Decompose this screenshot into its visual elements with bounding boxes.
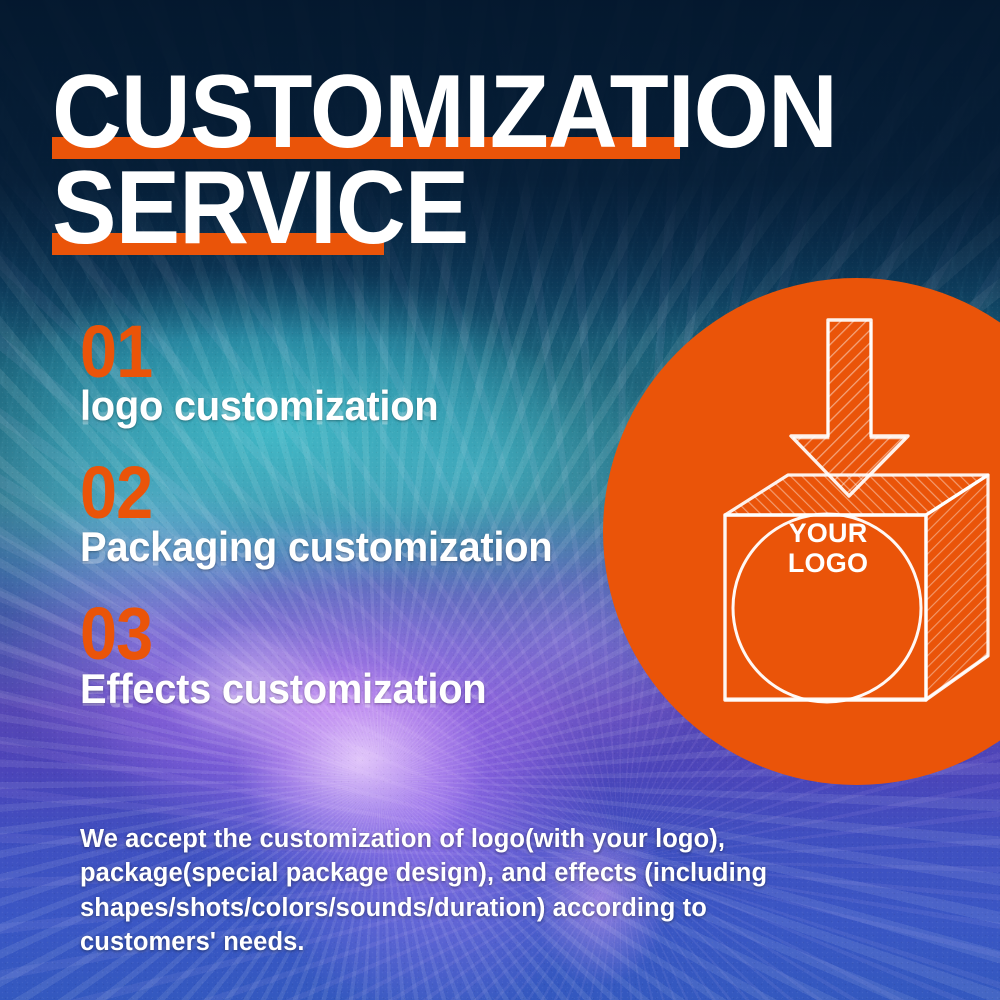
- description-paragraph: We accept the customization of logo(with…: [80, 822, 850, 960]
- headline-line-1: CUSTOMIZATION: [52, 65, 837, 161]
- orange-circle-graphic: YOUR LOGO: [603, 278, 1000, 785]
- service-item-label: Packaging customization: [80, 526, 552, 568]
- service-items-list: 01 logo customization logo customization…: [80, 322, 640, 746]
- service-item-label-wrap: Effects customization Effects customizat…: [80, 668, 640, 714]
- your-logo-line-2: LOGO: [758, 548, 898, 578]
- service-item-02: 02 Packaging customization Packaging cus…: [80, 463, 640, 572]
- headline-block: CUSTOMIZATION SERVICE: [52, 48, 752, 249]
- service-item-number: 03: [80, 604, 584, 663]
- your-logo-text: YOUR LOGO: [758, 518, 898, 578]
- headline-line-2-row: SERVICE: [52, 149, 752, 249]
- banner-content: CUSTOMIZATION SERVICE 01 logo customizat…: [0, 0, 1000, 1000]
- service-item-number: 01: [80, 322, 584, 381]
- service-item-number: 02: [80, 463, 584, 522]
- service-item-03: 03 Effects customization Effects customi…: [80, 604, 640, 713]
- banner-canvas: CUSTOMIZATION SERVICE 01 logo customizat…: [0, 0, 1000, 1000]
- headline-line-2: SERVICE: [52, 161, 468, 257]
- service-item-label-wrap: Packaging customization Packaging custom…: [80, 526, 640, 572]
- service-item-label: Effects customization: [80, 668, 486, 710]
- your-logo-line-1: YOUR: [758, 518, 898, 548]
- service-item-label-wrap: logo customization logo customization: [80, 385, 640, 431]
- service-item-01: 01 logo customization logo customization: [80, 322, 640, 431]
- headline-line-1-row: CUSTOMIZATION: [52, 48, 752, 153]
- down-arrow-icon: [791, 320, 908, 496]
- package-box-icon: [725, 475, 988, 700]
- service-item-label: logo customization: [80, 385, 438, 427]
